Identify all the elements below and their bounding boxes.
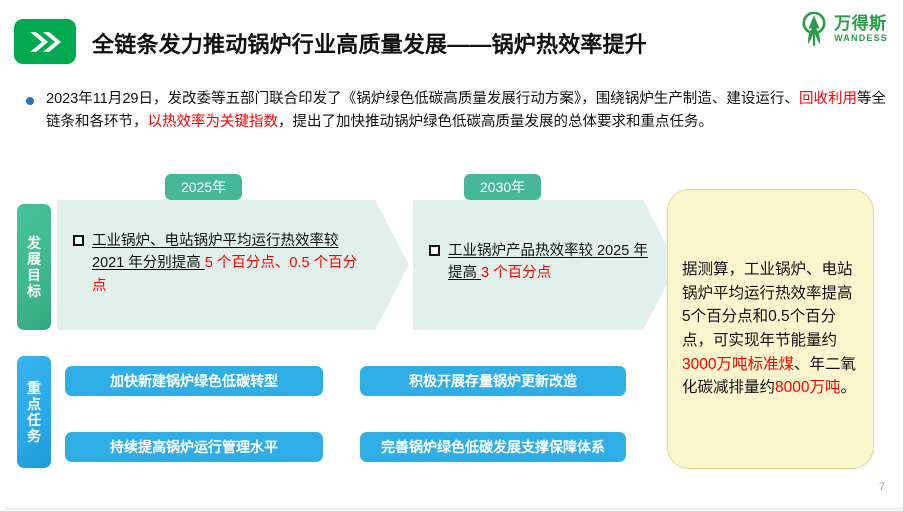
slide-canvas: 全链条发力推动锅炉行业高质量发展——锅炉热效率提升 万得斯 WANDESS 20… (0, 0, 904, 512)
note-seg-1: 3000万吨标准煤 (682, 356, 794, 373)
brand-logo: 万得斯 WANDESS (799, 12, 888, 46)
goal-char-1: 展 (27, 251, 41, 267)
page-number: 7 (879, 481, 885, 493)
logo-wordmark: 万得斯 WANDESS (834, 15, 888, 43)
side-label-key-task: 重 点 任 务 (17, 356, 51, 468)
task-pill-existing-boiler-upgrade[interactable]: 积极开展存量锅炉更新改造 (360, 366, 626, 396)
intro-paragraph: 2023年11月29日，发改委等五部门联合印发了《锅炉绿色低碳高质量发展行动方案… (46, 88, 886, 135)
logo-name-cn: 万得斯 (834, 15, 888, 32)
goal-char-2: 目 (27, 267, 41, 283)
intro-seg-1: 回收利用 (799, 91, 857, 107)
slide-header: 全链条发力推动锅炉行业高质量发展——锅炉热效率提升 万得斯 WANDESS (0, 0, 904, 76)
note-seg-3: 8000万吨 (775, 379, 840, 396)
side-label-development-goal: 发 展 目 标 (17, 204, 51, 330)
task-char-3: 务 (27, 428, 41, 444)
task-pill-new-boiler-transition[interactable]: 加快新建锅炉绿色低碳转型 (65, 366, 323, 396)
square-bullet-icon (429, 245, 440, 256)
estimate-note-text: 据测算，工业锅炉、电站锅炉平均运行热效率提高5个百分点和0.5个百分点，可实现年… (668, 258, 873, 399)
chevron-item-2-text: 工业锅炉产品热效率较 2025 年提高 3 个百分点 (448, 240, 654, 285)
task-char-2: 任 (27, 412, 41, 428)
task-char-1: 点 (27, 396, 41, 412)
double-chevron-right-icon (14, 19, 76, 64)
year-badge-2025: 2025年 (165, 174, 242, 200)
task-char-0: 重 (27, 380, 41, 396)
chev2-part-1: 3 个百分点 (481, 265, 551, 281)
square-bullet-icon (73, 235, 84, 246)
timeline-chevron-band: 工业锅炉、电站锅炉平均运行热效率较 2021 年分别提高 5 个百分点、0.5 … (57, 200, 677, 330)
note-seg-4: 。 (841, 379, 857, 396)
year-badge-2030: 2030年 (464, 174, 541, 200)
chevron-item-1: 工业锅炉、电站锅炉平均运行热效率较 2021 年分别提高 5 个百分点、0.5 … (73, 230, 363, 297)
intro-seg-4: ，提出了加快推动锅炉绿色低碳高质量发展的总体要求和重点任务。 (278, 114, 713, 130)
task-pill-operation-management[interactable]: 持续提高锅炉运行管理水平 (65, 432, 323, 462)
intro-seg-3: 以热效率为关键指数 (148, 114, 279, 130)
chevron-item-2: 工业锅炉产品热效率较 2025 年提高 3 个百分点 (429, 240, 654, 285)
task-pill-support-system[interactable]: 完善锅炉绿色低碳发展支撑保障体系 (360, 432, 626, 462)
goal-char-3: 标 (27, 283, 41, 299)
chevron-item-1-text: 工业锅炉、电站锅炉平均运行热效率较 2021 年分别提高 5 个百分点、0.5 … (92, 230, 363, 297)
page-title: 全链条发力推动锅炉行业高质量发展——锅炉热效率提升 (92, 27, 647, 59)
estimate-note-panel: 据测算，工业锅炉、电站锅炉平均运行热效率提高5个百分点和0.5个百分点，可实现年… (667, 189, 874, 469)
note-seg-0: 据测算，工业锅炉、电站锅炉平均运行热效率提高5个百分点和0.5个百分点，可实现年… (682, 261, 853, 349)
logo-name-en: WANDESS (834, 34, 888, 43)
wandess-leaf-logo-icon (799, 12, 829, 46)
intro-bullet: 2023年11月29日，发改委等五部门联合印发了《锅炉绿色低碳高质量发展行动方案… (26, 88, 886, 135)
intro-seg-0: 2023年11月29日，发改委等五部门联合印发了《锅炉绿色低碳高质量发展行动方案… (46, 91, 799, 107)
goal-char-0: 发 (27, 235, 41, 251)
bullet-dot-icon (26, 97, 34, 105)
